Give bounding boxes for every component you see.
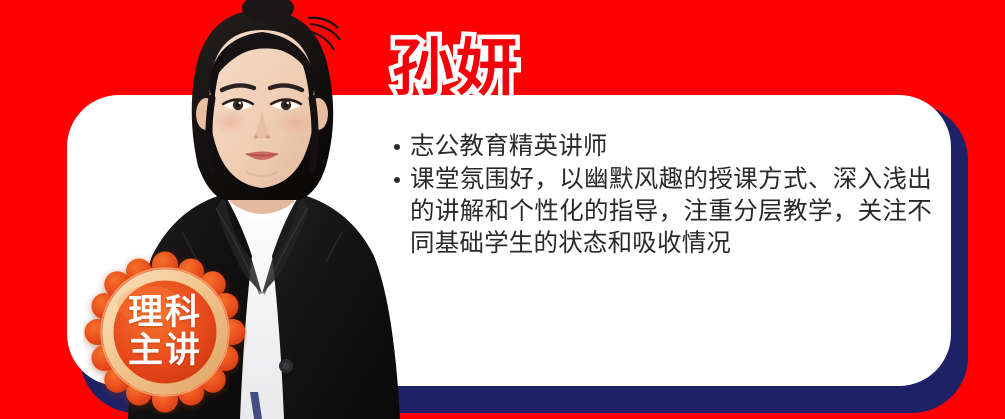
bullet-text: 志公教育精英讲师 <box>410 133 608 160</box>
teacher-bullet-list: 志公教育精英讲师 课堂氛围好，以幽默风趣的授课方式、深入浅出的讲解和个性化的指导… <box>392 131 932 261</box>
list-item: 课堂氛围好，以幽默风趣的授课方式、深入浅出的讲解和个性化的指导，注重分层教学，关… <box>392 164 932 260</box>
bullet-text: 课堂氛围好，以幽默风趣的授课方式、深入浅出的讲解和个性化的指导，注重分层教学，关… <box>410 166 932 257</box>
list-item: 志公教育精英讲师 <box>392 131 932 163</box>
teacher-name: 孙妍 <box>392 38 520 100</box>
bullet-dot-icon <box>394 144 400 150</box>
subject-badge: 理科 主讲 <box>83 250 247 414</box>
bullet-dot-icon <box>394 177 400 183</box>
teacher-profile-poster: 孙妍 志公教育精英讲师 课堂氛围好，以幽默风趣的授课方式、深入浅出的讲解和个性化… <box>0 0 1005 419</box>
